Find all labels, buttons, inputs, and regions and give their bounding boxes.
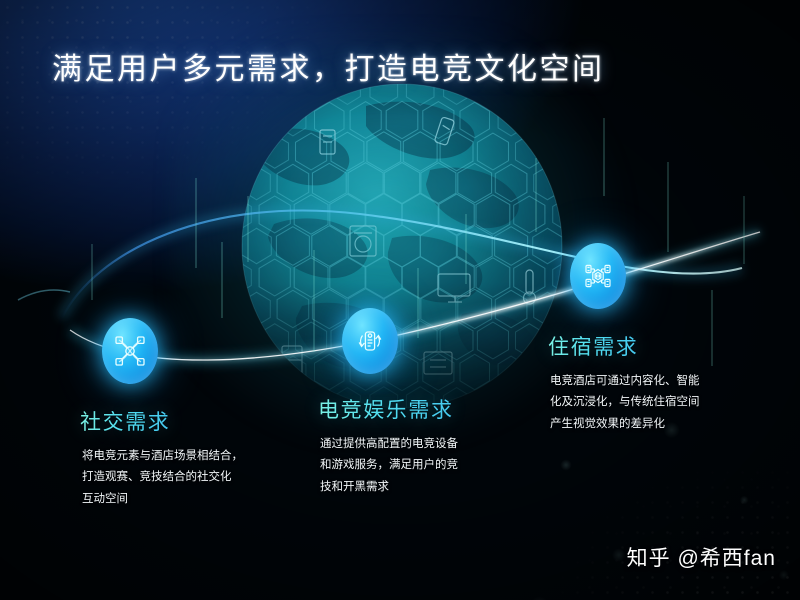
callout-gaming-body-line: 和游戏服务，满足用户的竞 bbox=[320, 455, 458, 476]
callout-stay: 住宿需求 住宿需求 电竞酒店可通过内容化、智能 化及沉浸化，与传统住宿空间 产生… bbox=[548, 243, 700, 435]
callout-gaming-body: 通过提供高配置的电竞设备 和游戏服务，满足用户的竞 技和开黑需求 bbox=[320, 434, 458, 498]
callout-gaming-body-line: 通过提供高配置的电竞设备 bbox=[320, 434, 458, 455]
watermark: 知乎 @希西fan bbox=[627, 542, 776, 572]
callout-gaming-heading: 电竞娱乐需求 bbox=[318, 399, 454, 422]
callout-gaming: 电竞娱乐需求 电竞娱乐需求 通过提供高配置的电竞设备 和游戏服务，满足用户的竞 … bbox=[318, 308, 458, 498]
callout-social-body: 将电竞元素与酒店场景相结合， 打造观赛、竞技结合的社交化 互动空间 bbox=[82, 446, 243, 510]
callout-social-body-line: 互动空间 bbox=[82, 489, 243, 510]
callout-stay-body-line: 电竞酒店可通过内容化、智能 bbox=[550, 371, 700, 392]
device-refresh-icon[interactable] bbox=[342, 308, 398, 374]
callout-social: 社交需求 社交需求 将电竞元素与酒店场景相结合， 打造观赛、竞技结合的社交化 互… bbox=[80, 318, 243, 510]
presentation-slide: 满足用户多元需求，打造电竞文化空间 社交需求 社交需求 将电竞元素与酒店场 bbox=[0, 0, 800, 600]
network-nodes-icon[interactable] bbox=[102, 318, 158, 384]
callout-social-body-line: 打造观赛、竞技结合的社交化 bbox=[82, 467, 243, 488]
callout-stay-body-line: 产生视觉效果的差异化 bbox=[550, 414, 700, 435]
callout-stay-body: 电竞酒店可通过内容化、智能 化及沉浸化，与传统住宿空间 产生视觉效果的差异化 bbox=[550, 371, 700, 435]
callout-stay-heading: 住宿需求 bbox=[548, 336, 638, 359]
callout-social-heading: 社交需求 bbox=[80, 411, 170, 434]
smart-chip-icon[interactable] bbox=[570, 243, 626, 309]
callout-gaming-body-line: 技和开黑需求 bbox=[320, 477, 458, 498]
page-title: 满足用户多元需求，打造电竞文化空间 bbox=[52, 44, 605, 88]
callout-stay-body-line: 化及沉浸化，与传统住宿空间 bbox=[550, 392, 700, 413]
callout-social-body-line: 将电竞元素与酒店场景相结合， bbox=[82, 446, 243, 467]
